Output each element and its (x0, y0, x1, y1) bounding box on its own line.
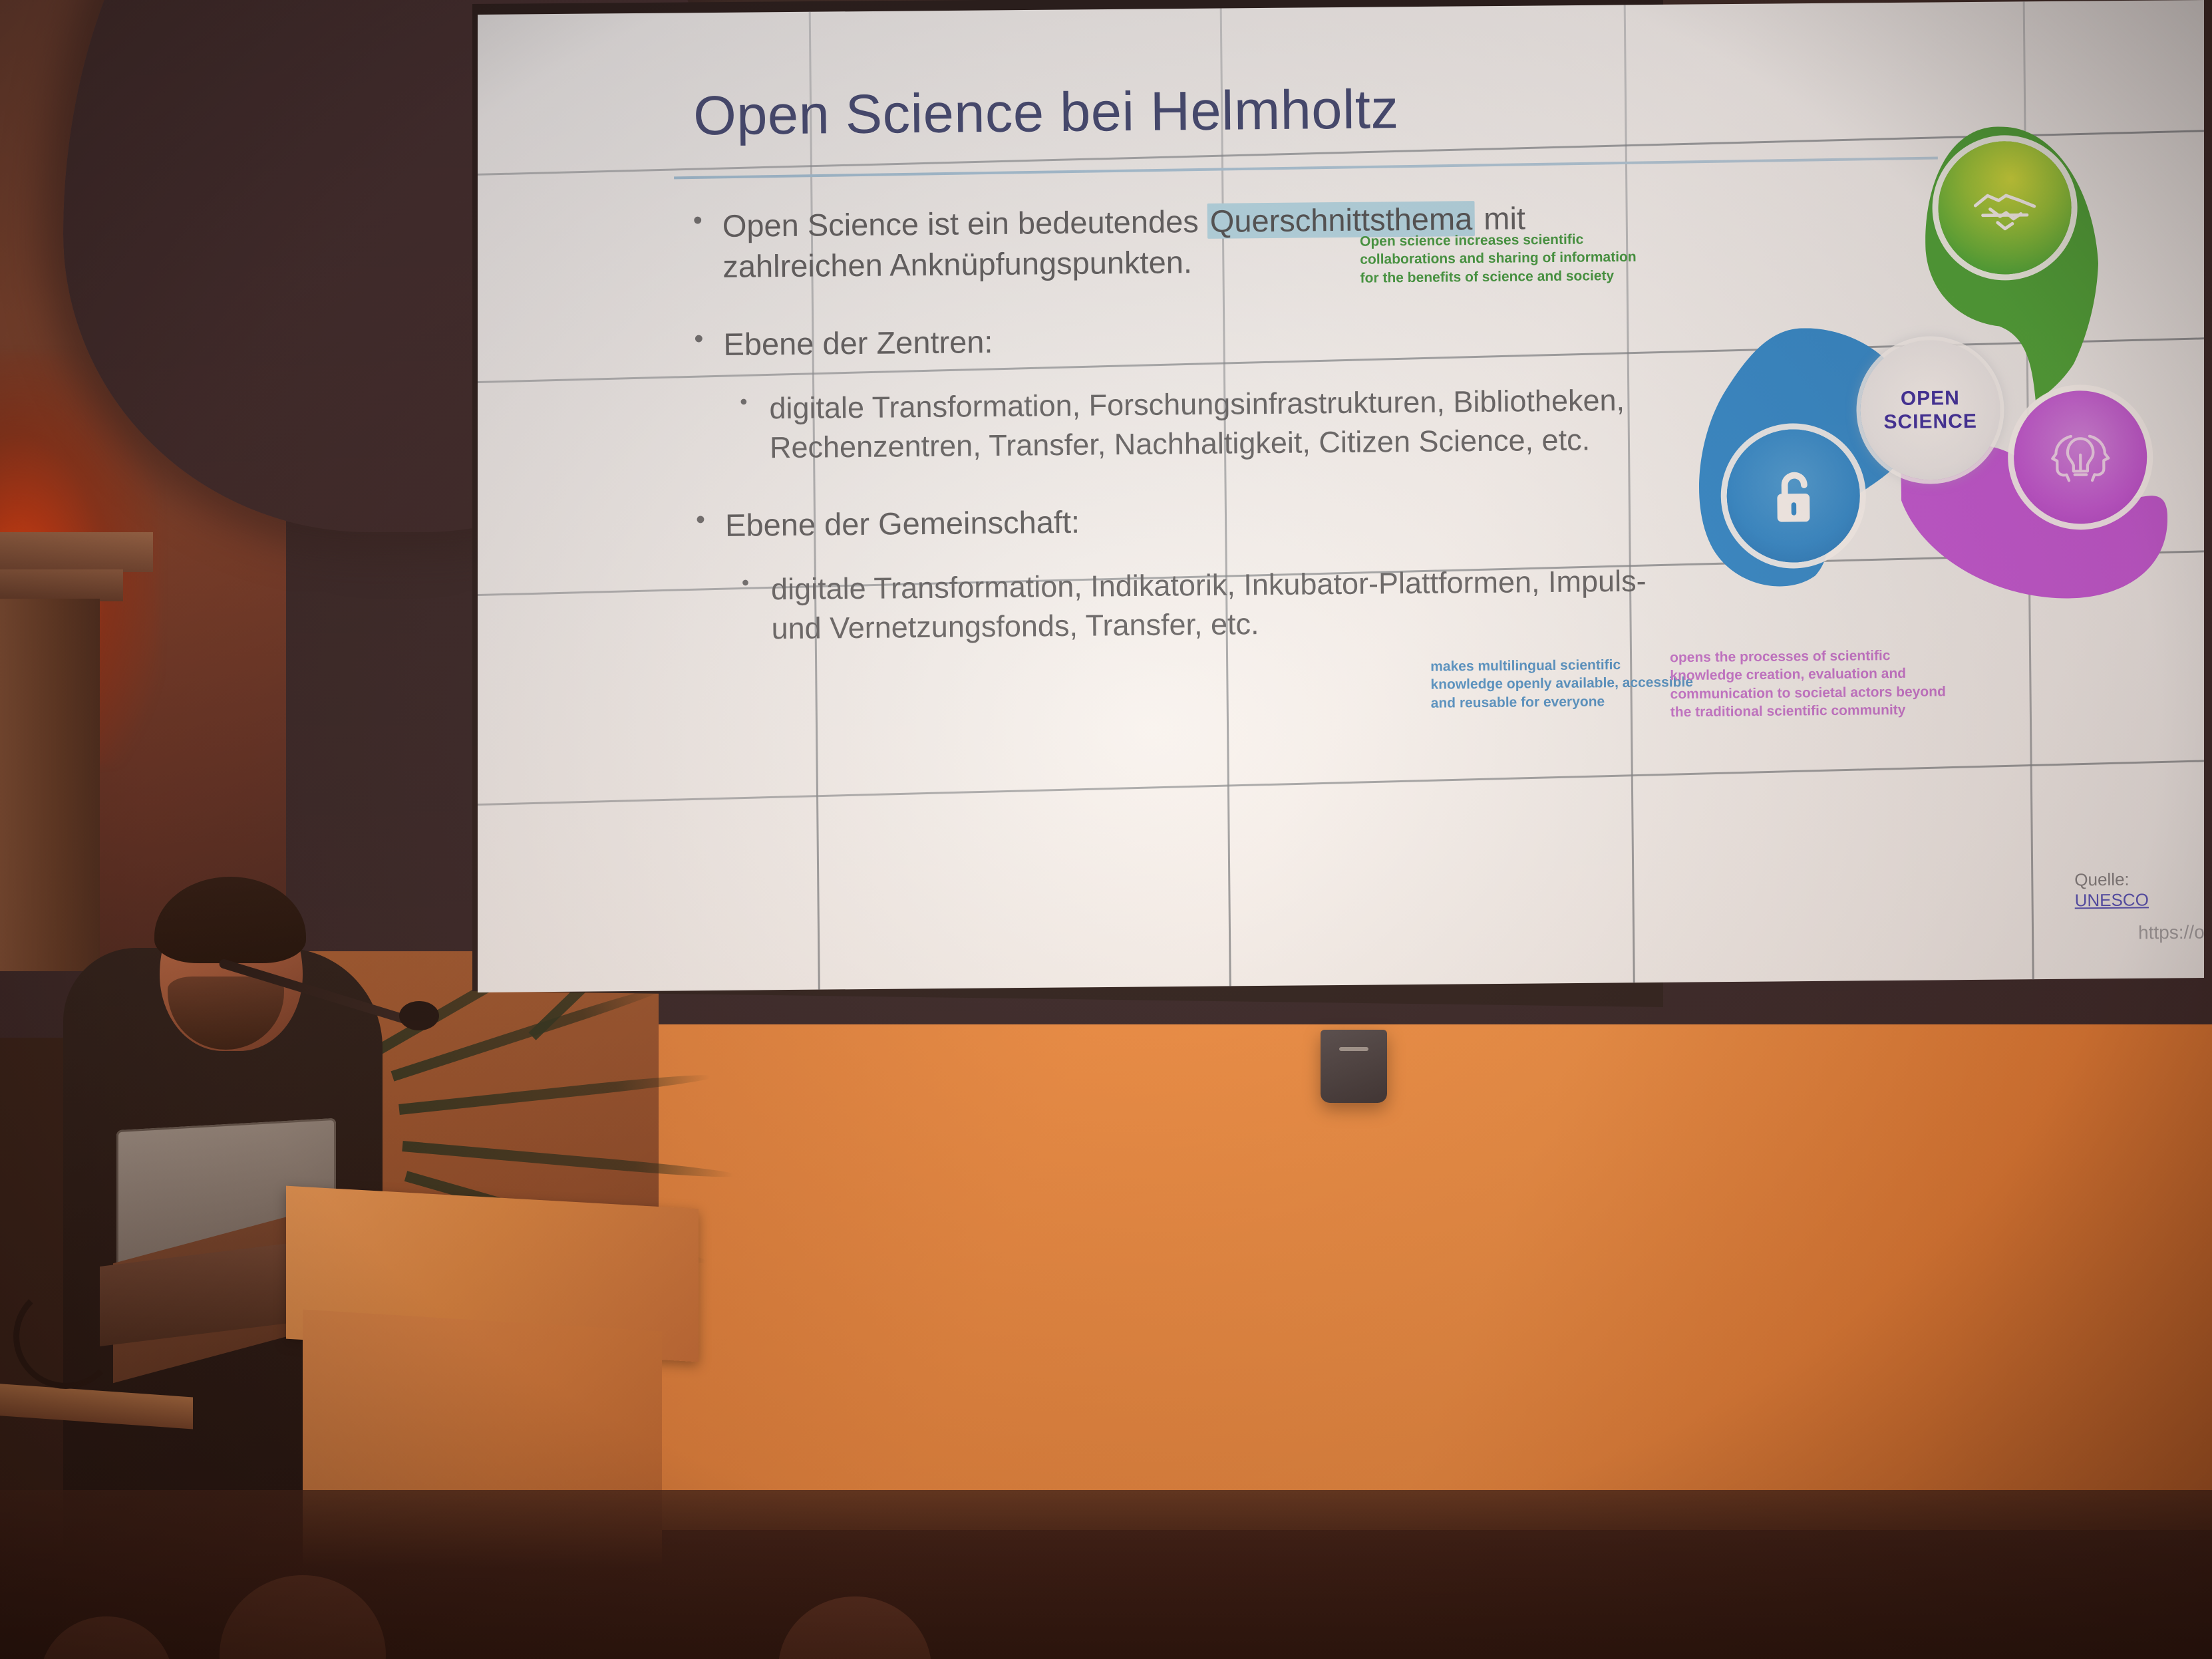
wall-loudspeaker (1321, 1030, 1387, 1103)
center-line-2: SCIENCE (1883, 410, 1977, 434)
open-science-diagram: OPEN SCIENCE Open science increases scie… (1678, 125, 2190, 795)
column-shaft (0, 599, 100, 971)
presentation-slide: Open Science bei Helmholtz Open Science … (473, 0, 2209, 1038)
conference-hall-scene: Open Science bei Helmholtz Open Science … (0, 0, 2212, 1659)
magenta-caption: opens the processes of scientific knowle… (1670, 646, 1950, 721)
sub-bullet-item: digitale Transformation, Indikatorik, In… (678, 561, 1690, 649)
slide-url: https://os.helmholtz.de (2138, 921, 2212, 944)
source-credit: Quelle: UNESCO (2074, 869, 2208, 911)
green-caption: Open science increases scientific collab… (1360, 230, 1640, 287)
open-science-center-label: OPEN SCIENCE (1860, 339, 2001, 480)
sub-bullet-item: digitale Transformation, Forschungsinfra… (676, 380, 1688, 468)
source-label: Quelle: (2074, 869, 2130, 890)
heads-lightbulb-icon (2013, 390, 2147, 524)
center-line-1: OPEN (1901, 386, 1960, 410)
projection-screen: Open Science bei Helmholtz Open Science … (478, 0, 2204, 1030)
unesco-link[interactable]: UNESCO (2074, 889, 2149, 910)
bullet-text-before: Open Science ist ein bedeutendes (722, 204, 1207, 243)
microphone-head (399, 1001, 439, 1030)
slide-title: Open Science bei Helmholtz (693, 75, 1825, 146)
blue-caption: makes multilingual scientific knowledge … (1430, 655, 1697, 712)
power-cable (13, 1284, 118, 1389)
column-capital (0, 532, 153, 572)
handshake-icon (1938, 140, 2072, 275)
column-capital-lower (0, 569, 123, 601)
open-padlock-icon (1726, 429, 1861, 563)
